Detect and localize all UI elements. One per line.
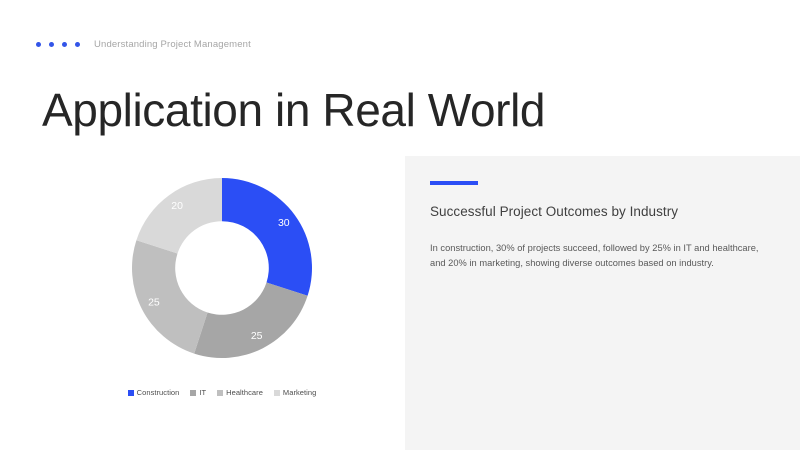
donut-graphic: 30252520 <box>132 178 312 358</box>
chart-legend: ConstructionITHealthcareMarketing <box>108 388 336 397</box>
donut-svg: 30252520 <box>132 178 312 358</box>
donut-slice <box>132 240 208 353</box>
insight-panel: Successful Project Outcomes by Industry … <box>405 156 800 450</box>
bullet-dot-icon <box>36 42 41 47</box>
legend-item[interactable]: Healthcare <box>217 388 263 397</box>
legend-item[interactable]: Marketing <box>274 388 316 397</box>
slice-value-label: 25 <box>148 296 160 308</box>
legend-swatch-icon <box>274 390 280 396</box>
legend-swatch-icon <box>217 390 223 396</box>
legend-swatch-icon <box>128 390 134 396</box>
breadcrumb: Understanding Project Management <box>36 36 251 52</box>
slide: Understanding Project Management Applica… <box>0 0 800 450</box>
legend-label: IT <box>199 388 206 397</box>
donut-slice <box>194 282 307 358</box>
panel-body: In construction, 30% of projects succeed… <box>430 241 767 271</box>
slice-value-label: 25 <box>251 330 263 342</box>
legend-label: Marketing <box>283 388 316 397</box>
slice-value-label: 30 <box>278 217 290 229</box>
legend-item[interactable]: Construction <box>128 388 180 397</box>
bullet-dot-icon <box>62 42 67 47</box>
breadcrumb-label: Understanding Project Management <box>94 39 251 50</box>
donut-chart: 30252520 ConstructionITHealthcareMarketi… <box>108 170 336 415</box>
bullet-dot-icon <box>75 42 80 47</box>
donut-slice <box>136 178 222 254</box>
bullet-dot-icon <box>49 42 54 47</box>
dot-group-icon <box>36 42 80 47</box>
slice-value-label: 20 <box>171 200 183 212</box>
accent-bar <box>430 181 478 185</box>
page-title: Application in Real World <box>42 84 545 137</box>
panel-heading: Successful Project Outcomes by Industry <box>430 203 760 222</box>
legend-label: Healthcare <box>226 388 263 397</box>
donut-slice <box>222 178 312 296</box>
legend-item[interactable]: IT <box>190 388 206 397</box>
legend-label: Construction <box>137 388 180 397</box>
legend-swatch-icon <box>190 390 196 396</box>
